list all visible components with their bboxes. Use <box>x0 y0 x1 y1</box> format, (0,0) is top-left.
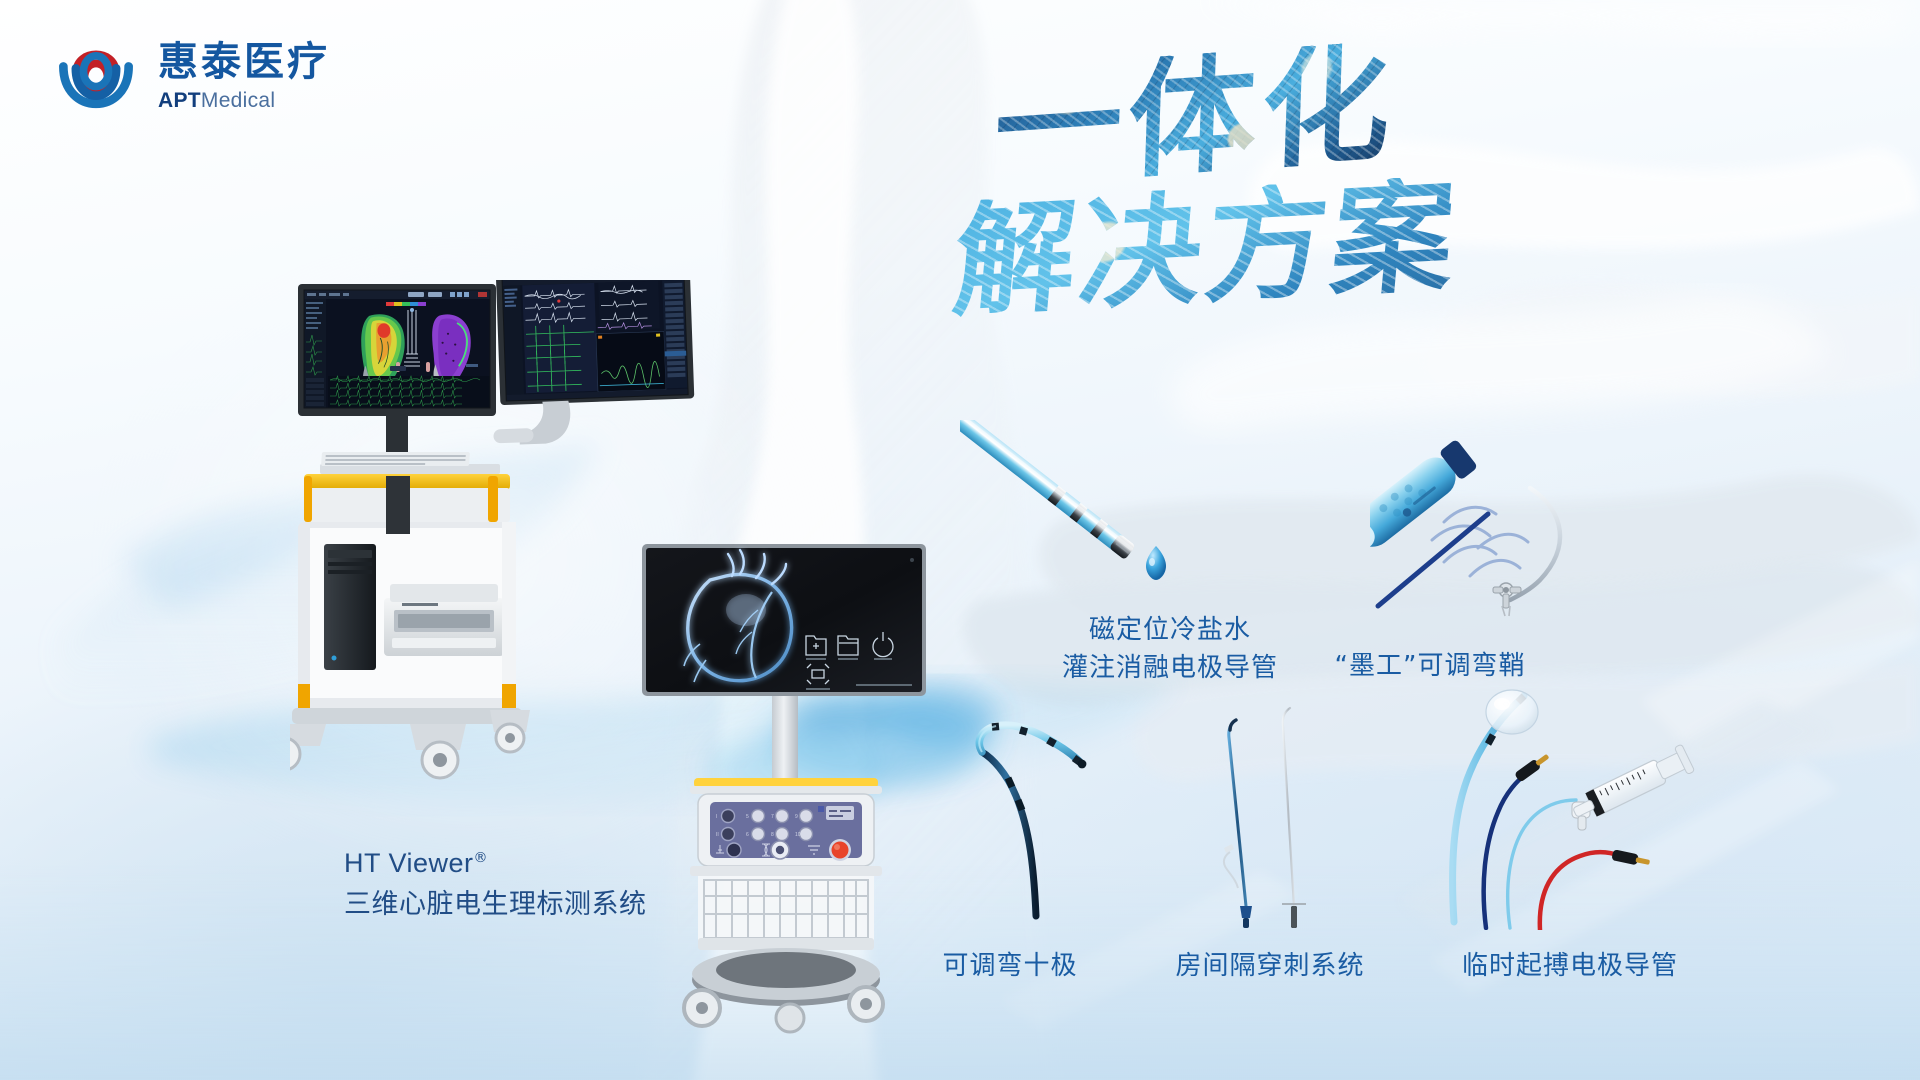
label-steerable-sheath: “墨工”可调弯鞘 <box>1300 648 1560 686</box>
3d-mapping-monitor <box>298 284 496 476</box>
cart-body <box>290 452 530 778</box>
sheath-stopcock <box>1493 583 1521 616</box>
svg-text:9: 9 <box>795 814 798 820</box>
steerable-decapolar-catheter <box>930 700 1130 920</box>
steerable-sheath <box>1370 430 1710 650</box>
svg-text:6: 6 <box>746 832 749 838</box>
svg-text:5: 5 <box>746 814 749 820</box>
brand-logo: 惠泰医疗 APTMedical <box>48 28 330 124</box>
brand-english-name: APTMedical <box>158 90 330 111</box>
ecg-recording-monitor <box>488 280 696 445</box>
svg-text:7: 7 <box>771 814 774 820</box>
ht-viewer-name-cn: 三维心脏电生理标测系统 <box>344 885 647 926</box>
temporary-pacing-electrode-catheter <box>1440 660 1820 930</box>
ht-viewer-trademark: ® <box>474 850 489 866</box>
ht-viewer-name-en: HT Viewer <box>344 848 474 878</box>
apt-medical-double-arc-logo-icon <box>48 28 144 124</box>
device-cart-frame <box>684 866 883 1032</box>
saline-droplet-icon <box>1146 546 1166 580</box>
transseptal-needle <box>1229 720 1246 906</box>
stimulator-control-panel: III 56 78 910 <box>698 794 874 866</box>
label-transseptal-system: 房间隔穿刺系统 <box>1160 948 1380 986</box>
svg-text:10: 10 <box>795 832 801 838</box>
label-decapolar-catheter: 可调弯十极 <box>920 948 1100 986</box>
irrigated-ablation-catheter <box>960 420 1240 620</box>
svg-text:I: I <box>716 814 717 820</box>
poster-canvas: 惠泰医疗 APTMedical 一体化 解决方案 <box>0 0 1920 1080</box>
brand-en-secondary: Medical <box>201 89 275 112</box>
inflation-syringe <box>1568 744 1694 830</box>
transseptal-guidewire <box>1283 708 1294 906</box>
hero-title: 一体化 解决方案 <box>960 40 1660 360</box>
svg-text:8: 8 <box>771 832 774 838</box>
brand-chinese-name: 惠泰医疗 <box>158 42 330 82</box>
sheath-handle <box>1370 437 1479 562</box>
transseptal-puncture-system <box>1190 680 1390 930</box>
heart-display-monitor <box>642 544 926 696</box>
brand-en-primary: APT <box>158 89 201 112</box>
label-ht-viewer: HT Viewer® 三维心脏电生理标测系统 <box>344 843 647 925</box>
label-temporary-pacing: 临时起搏电极导管 <box>1450 948 1690 986</box>
hero-title-line2: 解决方案 <box>949 174 1463 323</box>
heart-display-stand: III 56 78 910 <box>640 540 940 1040</box>
label-ablation-catheter: 磁定位冷盐水 灌注消融电极导管 <box>1030 612 1310 687</box>
svg-text:II: II <box>716 832 719 838</box>
balloon-tip <box>1486 690 1538 734</box>
